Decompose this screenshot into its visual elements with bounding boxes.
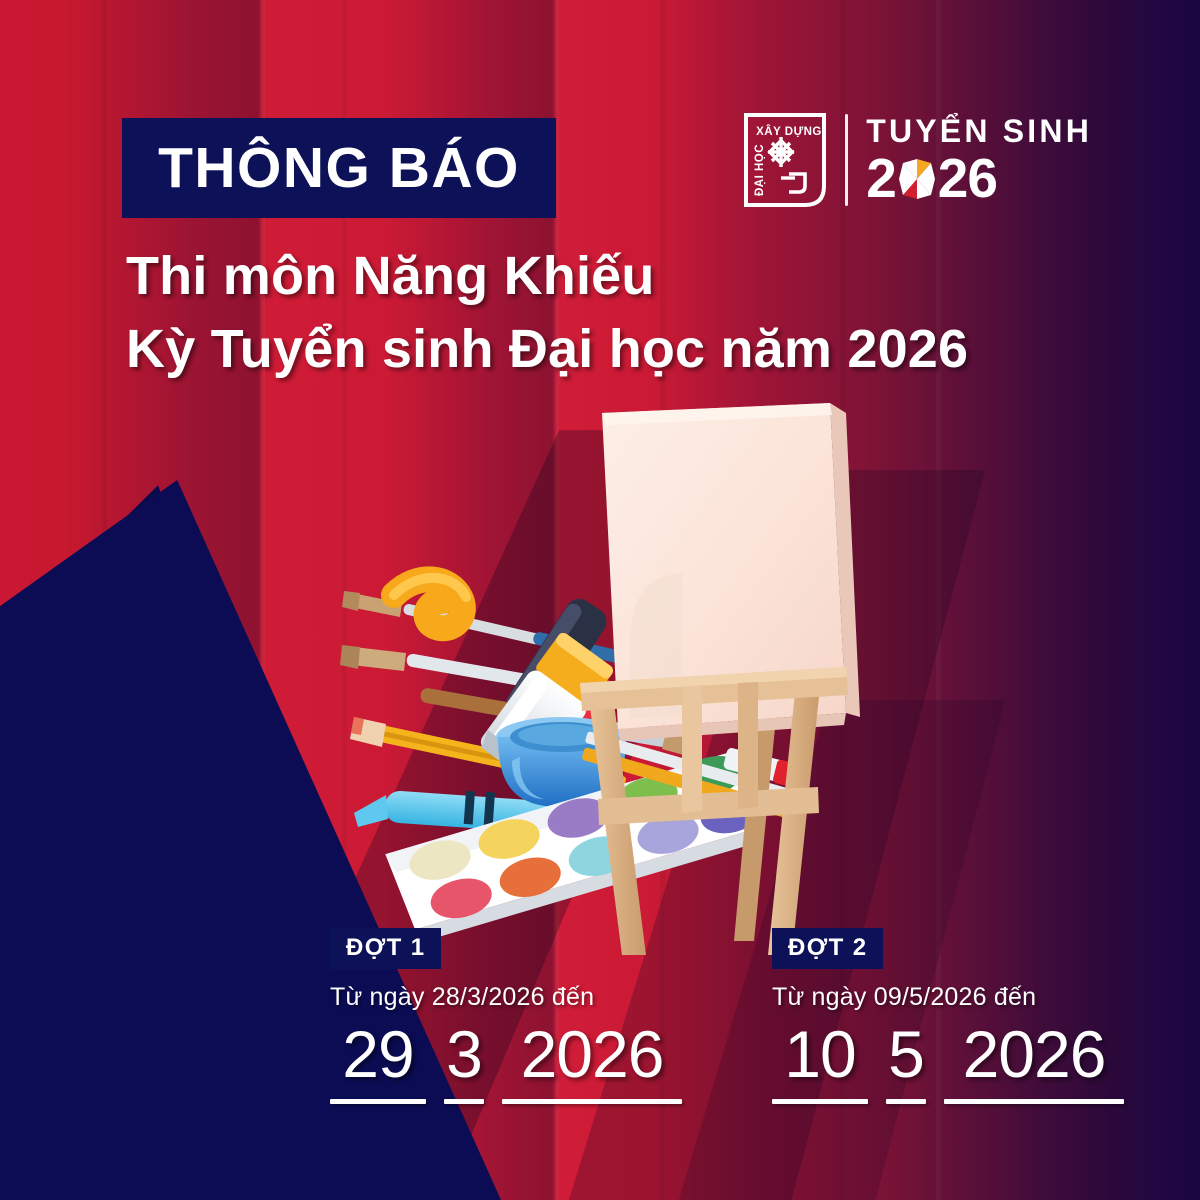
- subtitle-line-1: Thi môn Năng Khiếu: [126, 240, 1116, 313]
- batch-2-year: 2026: [963, 1020, 1106, 1089]
- svg-text:ĐẠI HỌC: ĐẠI HỌC: [754, 144, 766, 196]
- brand-lockup: XÂY DỰNG ĐẠI HỌC TUYỂN SINH 2: [743, 108, 1092, 212]
- batch-1-month-cell: 3: [444, 1020, 484, 1104]
- batch-1-year: 2026: [521, 1020, 664, 1089]
- batch-2-month-rule: [886, 1099, 926, 1104]
- poster-subtitle: Thi môn Năng Khiếu Kỳ Tuyển sinh Đại học…: [126, 240, 1116, 387]
- batch-1: ĐỢT 1 Từ ngày 28/3/2026 đến 29 3 2026: [330, 928, 682, 1104]
- batch-1-day-rule: [330, 1099, 426, 1104]
- batch-1-year-cell: 2026: [502, 1020, 682, 1104]
- batch-1-year-rule: [502, 1099, 682, 1104]
- dai-hoc-xay-dung-logo-icon: XÂY DỰNG ĐẠI HỌC: [743, 112, 827, 208]
- batch-2-day: 10: [784, 1020, 855, 1089]
- admission-year: 2 26: [866, 152, 1092, 206]
- batch-2: ĐỢT 2 Từ ngày 09/5/2026 đến 10 5 2026: [772, 928, 1124, 1104]
- batch-2-year-rule: [944, 1099, 1124, 1104]
- batch-2-month: 5: [888, 1020, 924, 1089]
- batch-1-month: 3: [446, 1020, 482, 1089]
- batch-2-range: Từ ngày 09/5/2026 đến: [772, 983, 1124, 1012]
- batch-1-month-rule: [444, 1099, 484, 1104]
- batch-2-year-cell: 2026: [944, 1020, 1124, 1104]
- batch-1-date: 29 3 2026: [330, 1020, 682, 1104]
- batch-1-badge: ĐỢT 1: [330, 928, 441, 969]
- batch-2-month-cell: 5: [886, 1020, 926, 1104]
- admission-year-suffix: 26: [938, 151, 997, 206]
- admission-year-prefix: 2: [866, 151, 896, 206]
- easel: [580, 403, 860, 955]
- admission-block: TUYỂN SINH 2 26: [866, 110, 1092, 210]
- subtitle-line-2: Kỳ Tuyển sinh Đại học năm 2026: [126, 313, 1116, 386]
- notice-title-text: THÔNG BÁO: [158, 140, 520, 197]
- logo-divider: [845, 114, 848, 206]
- batch-1-day: 29: [342, 1020, 413, 1089]
- art-supplies-easel-illustration: [330, 395, 870, 955]
- batch-2-badge: ĐỢT 2: [772, 928, 883, 969]
- admission-word: TUYỂN SINH: [866, 115, 1092, 147]
- batch-2-day-cell: 10: [772, 1020, 868, 1104]
- flower-zero-icon: [897, 157, 937, 201]
- batch-2-day-rule: [772, 1099, 868, 1104]
- batch-2-date: 10 5 2026: [772, 1020, 1124, 1104]
- batch-1-day-cell: 29: [330, 1020, 426, 1104]
- notice-title-box: THÔNG BÁO: [122, 118, 556, 218]
- batch-1-range: Từ ngày 28/3/2026 đến: [330, 983, 682, 1012]
- svg-text:XÂY DỰNG: XÂY DỰNG: [756, 125, 822, 138]
- announcement-poster: THÔNG BÁO XÂY DỰNG ĐẠI HỌC TUYỂN SINH 2: [0, 0, 1200, 1200]
